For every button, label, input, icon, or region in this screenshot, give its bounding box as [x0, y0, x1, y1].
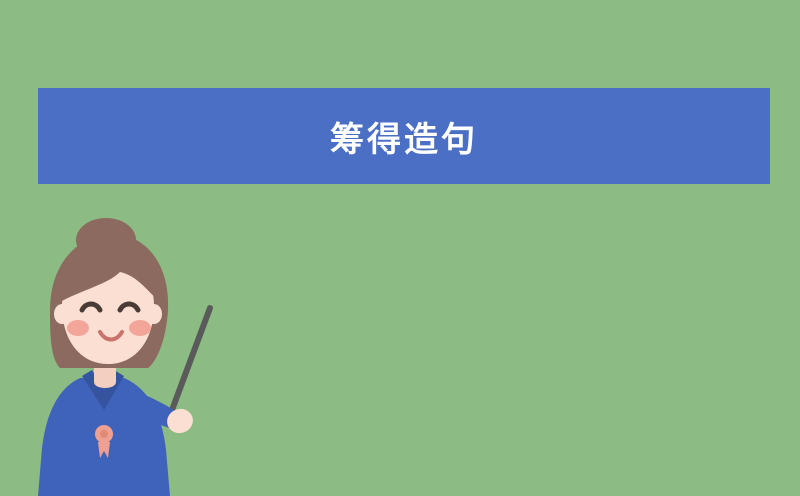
pointer-stick-icon	[166, 308, 210, 419]
ear-right	[146, 304, 162, 324]
cheek-right	[129, 320, 151, 336]
cheek-left	[67, 320, 89, 336]
ear-left	[54, 304, 70, 324]
page-canvas: 筹得造句	[0, 0, 800, 496]
page-title: 筹得造句	[330, 112, 478, 161]
body-coat	[38, 370, 196, 496]
teacher-illustration	[20, 218, 250, 496]
title-banner: 筹得造句	[38, 88, 770, 184]
